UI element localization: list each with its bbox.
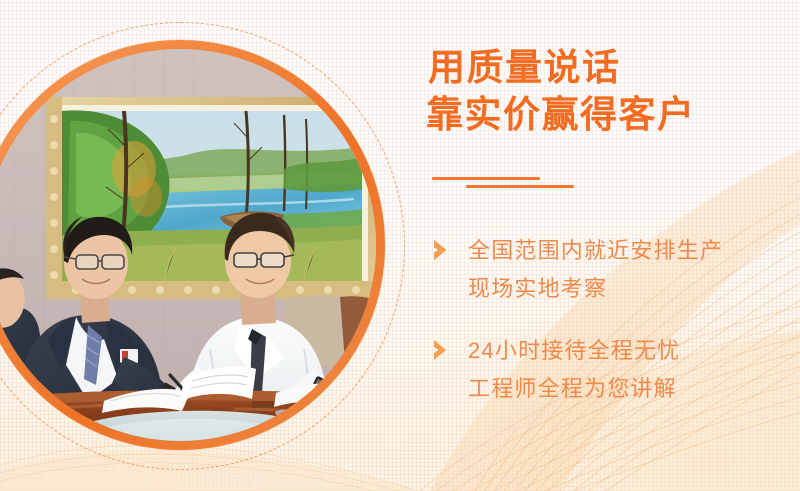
feature-item-2-line-1: 24小时接待全程无忧 bbox=[468, 332, 800, 370]
feature-list: 全国范围内就近安排生产 现场实地考察 24小时接待全程无忧 工程师全程为您讲解 bbox=[424, 232, 800, 408]
promo-banner: 用质量说话 靠实价赢得客户 全国范围内就近安排生产 现场实地考察 bbox=[0, 0, 800, 491]
headline-line-2: 靠实价赢得客户 bbox=[426, 91, 800, 138]
feature-item-1: 全国范围内就近安排生产 现场实地考察 bbox=[424, 232, 800, 308]
feature-item-1-line-1: 全国范围内就近安排生产 bbox=[468, 232, 800, 270]
divider-line-bottom bbox=[466, 185, 574, 188]
headline-line-1: 用质量说话 bbox=[428, 44, 800, 91]
photo-circle bbox=[0, 40, 385, 450]
content-column: 用质量说话 靠实价赢得客户 全国范围内就近安排生产 现场实地考察 bbox=[424, 0, 800, 491]
headline-block: 用质量说话 靠实价赢得客户 bbox=[428, 44, 800, 138]
divider bbox=[430, 172, 730, 192]
chevron-right-icon bbox=[432, 238, 452, 262]
meeting-photo bbox=[0, 49, 376, 441]
feature-item-1-line-2: 现场实地考察 bbox=[468, 270, 800, 308]
feature-item-2-line-2: 工程师全程为您讲解 bbox=[468, 370, 800, 408]
divider-line-top bbox=[432, 177, 540, 180]
chevron-right-icon bbox=[432, 338, 452, 362]
feature-item-2: 24小时接待全程无忧 工程师全程为您讲解 bbox=[424, 332, 800, 408]
